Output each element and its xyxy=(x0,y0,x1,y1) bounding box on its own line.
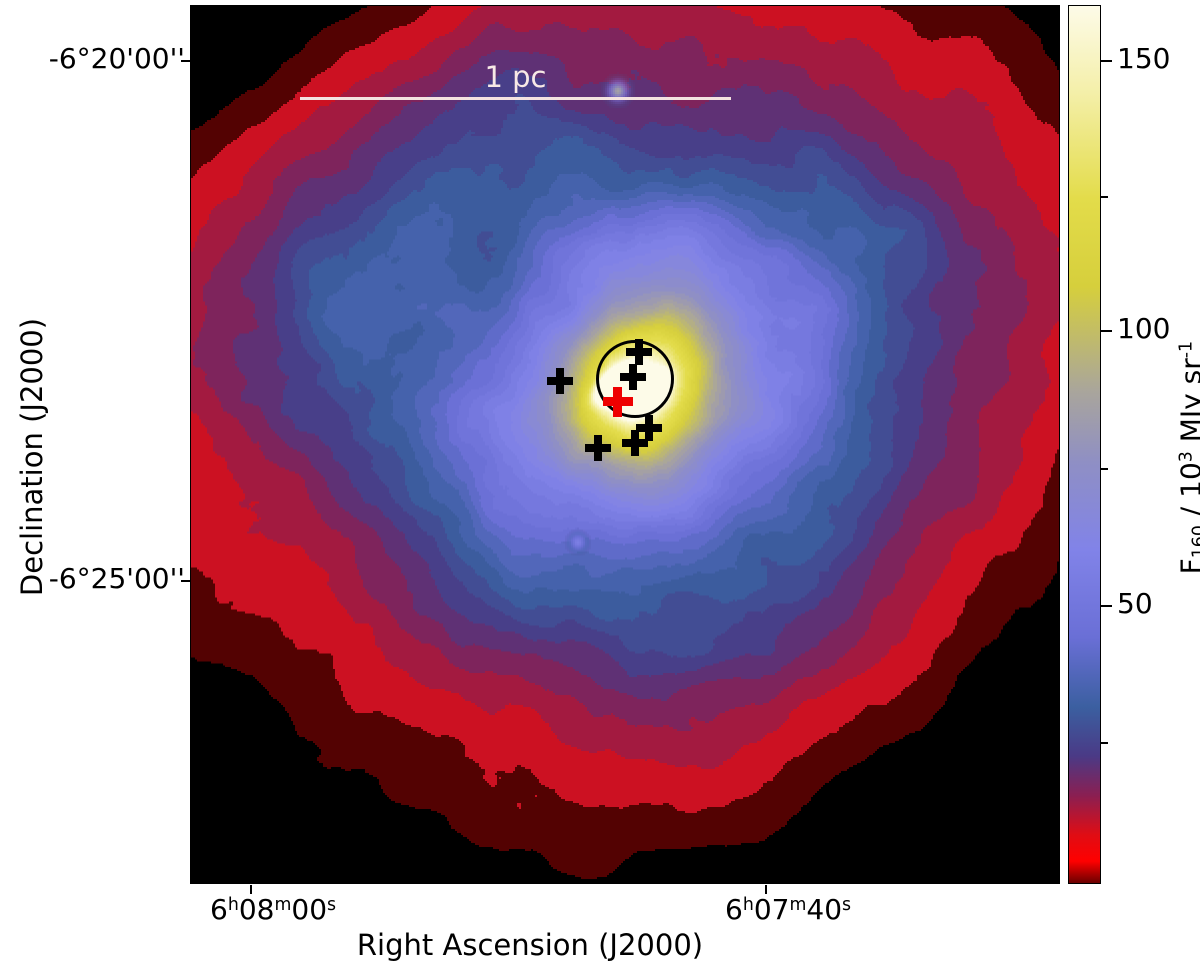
colorbar-title-sub: 160 xyxy=(1190,525,1200,558)
colorbar-tick-label: 150 xyxy=(1117,42,1170,75)
colorbar-title-main: F xyxy=(1174,558,1200,574)
sky-image-panel xyxy=(190,5,1060,884)
ra-tick-label: 6h07m40s xyxy=(725,893,851,926)
colorbar-tick xyxy=(1101,330,1112,332)
figure-root: 1 pc -6°20'00''-6°25'00''6h08m00s6h07m40… xyxy=(0,0,1200,967)
scale-bar xyxy=(300,97,731,100)
colorbar-tick-label: 100 xyxy=(1117,312,1170,345)
colorbar-minor-tick xyxy=(1101,196,1108,198)
colorbar-minor-tick xyxy=(1101,742,1108,744)
sky-image-canvas xyxy=(191,6,1060,884)
colorbar-tick xyxy=(1101,60,1112,62)
colorbar-title-sup2: -1 xyxy=(1177,341,1197,358)
scale-bar-label: 1 pc xyxy=(300,60,731,94)
y-axis-title: Declination (J2000) xyxy=(15,257,49,657)
colorbar-title-tail: MJy sr xyxy=(1174,358,1200,451)
colorbar-minor-tick xyxy=(1101,468,1108,470)
dec-tick-label: -6°20'00'' xyxy=(49,42,185,75)
colorbar-tick xyxy=(1101,605,1112,607)
x-axis-title: Right Ascension (J2000) xyxy=(0,928,1060,962)
aperture-circle xyxy=(596,340,674,418)
colorbar-gradient xyxy=(1069,6,1100,883)
colorbar-tick-label: 50 xyxy=(1117,587,1153,620)
colorbar-title-mid: / 10 xyxy=(1174,462,1200,525)
colorbar-title: F160 / 103 MJy sr-1 xyxy=(1174,278,1200,638)
ra-tick-label: 6h08m00s xyxy=(210,893,336,926)
colorbar xyxy=(1068,5,1101,884)
dec-tick-label: -6°25'00'' xyxy=(49,562,185,595)
colorbar-title-sup: 3 xyxy=(1177,451,1197,462)
